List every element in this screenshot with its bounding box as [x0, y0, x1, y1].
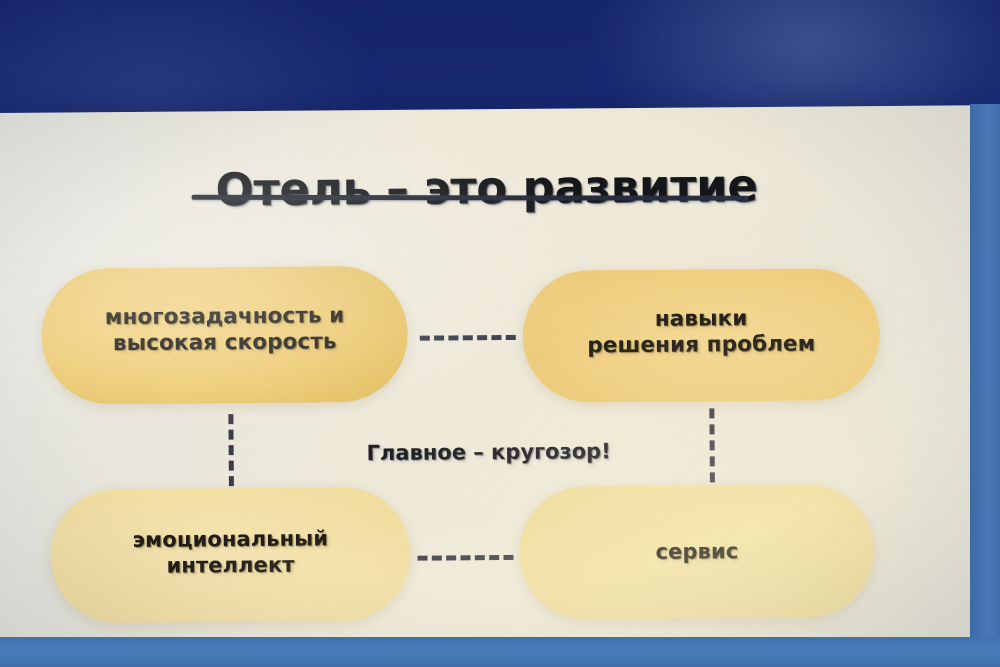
concept-box-top-right-label: навыки решения проблем: [587, 305, 815, 365]
projection-screen: Отель – это развитие многозадачность и в…: [0, 105, 982, 649]
concept-box-bottom-right-label: сервис: [655, 539, 738, 565]
concept-box-bottom-left[interactable]: эмоциональный интеллект: [50, 487, 411, 624]
concept-box-top-left[interactable]: многозадачность и высокая скорость: [41, 266, 408, 405]
title-underline: [192, 195, 749, 201]
concept-box-top-right[interactable]: навыки решения проблем: [522, 268, 880, 403]
center-caption: Главное – кругозор!: [0, 436, 981, 468]
screen-bottom-frame: [0, 637, 1000, 667]
connector-right-vertical: [709, 408, 715, 482]
concept-box-top-left-label: многозадачность и высокая скорость: [105, 303, 345, 367]
connector-left-vertical: [228, 414, 234, 486]
connector-bottom-horizontal: [417, 555, 513, 561]
connector-top-horizontal: [420, 335, 516, 341]
page-title: Отель – это развитие: [0, 161, 979, 214]
slide-photo: Отель – это развитие многозадачность и в…: [0, 0, 1000, 667]
concept-box-bottom-right[interactable]: сервис: [519, 484, 875, 620]
screen-right-frame: [970, 104, 1000, 667]
concept-box-bottom-left-label: эмоциональный интеллект: [132, 527, 328, 584]
